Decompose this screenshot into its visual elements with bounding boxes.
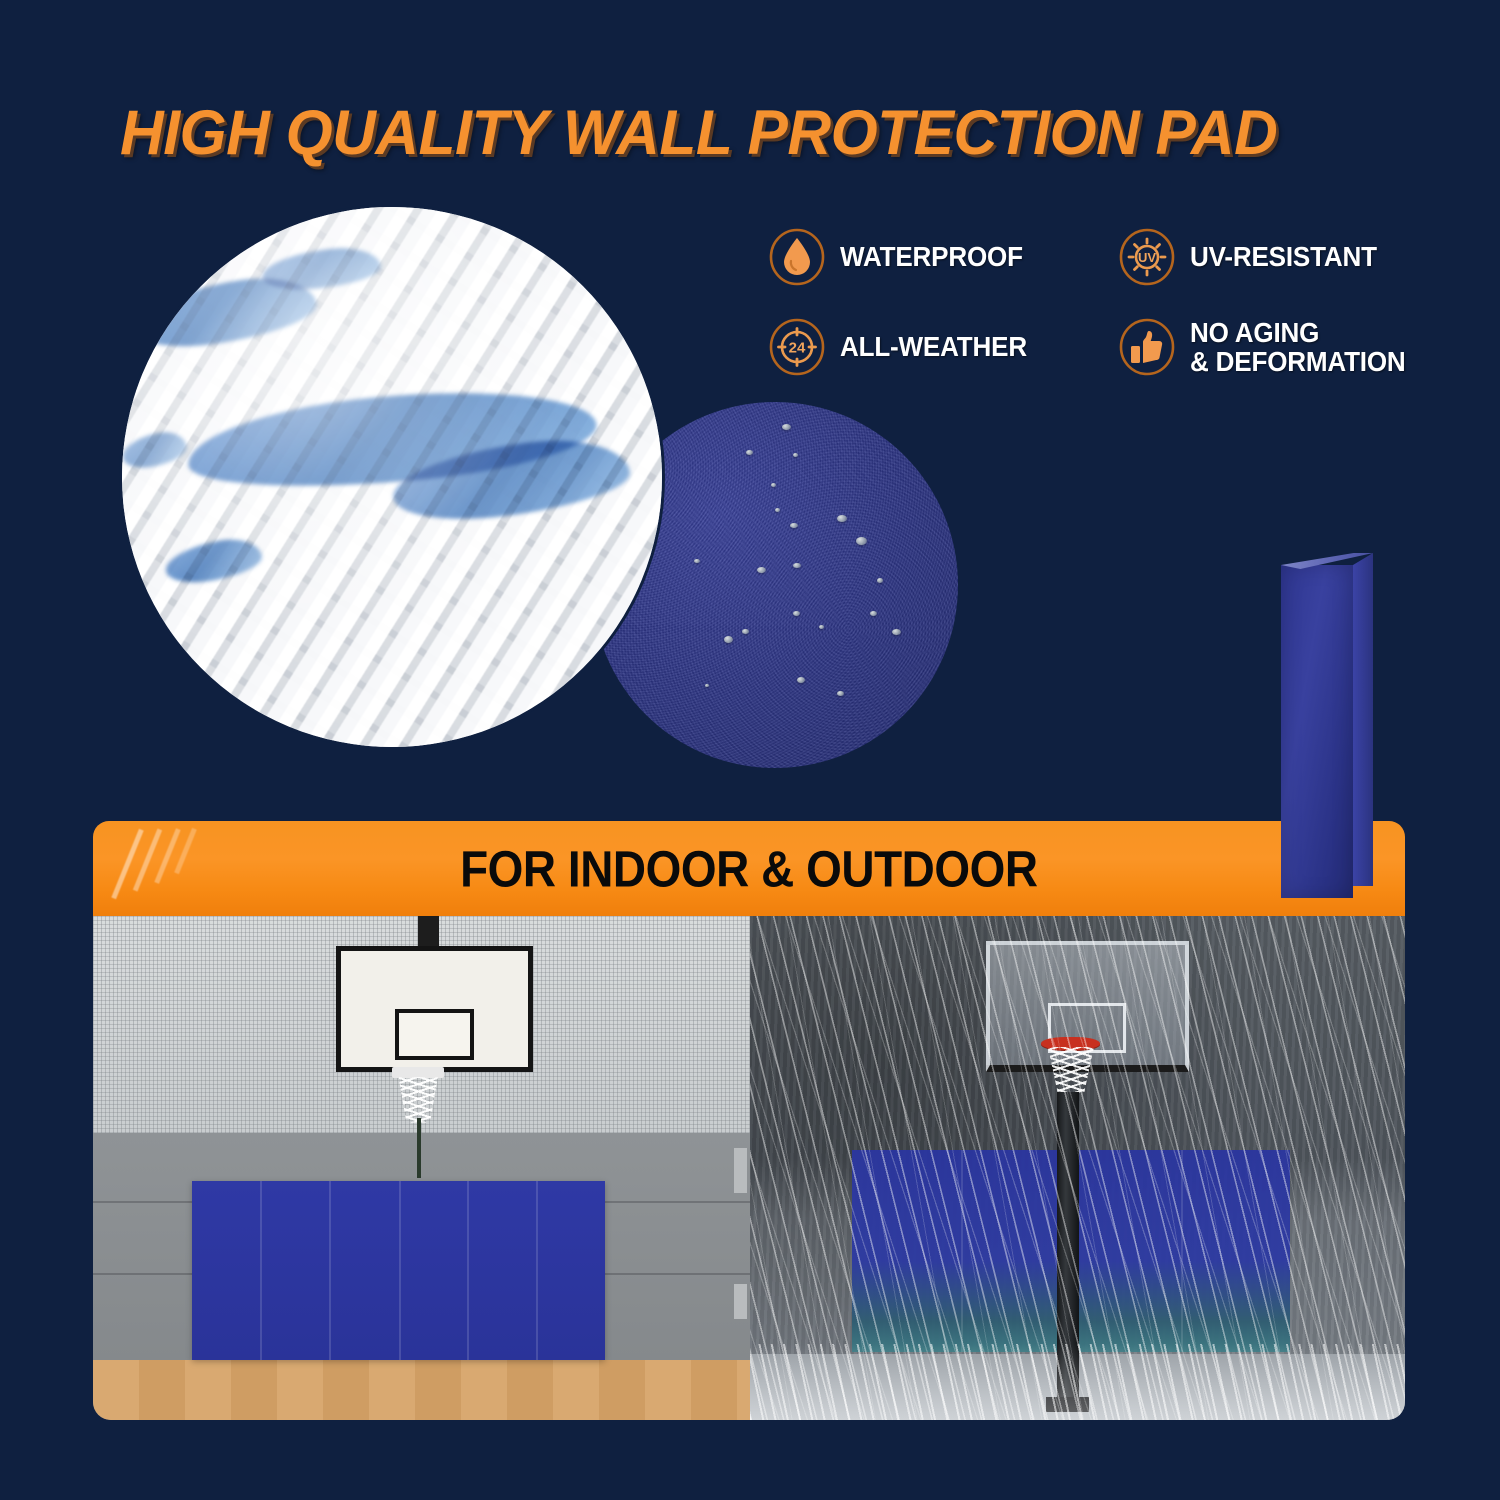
backboard-square (395, 1009, 474, 1060)
indoor-rim (392, 1067, 445, 1078)
water-bead (724, 636, 733, 643)
water-bead (746, 450, 753, 455)
standing-pad-3d (1281, 553, 1373, 898)
hours-icon-text: 24 (789, 340, 806, 357)
indoor-backboard (336, 946, 533, 1072)
wall-fixture-lower (734, 1284, 747, 1319)
water-bead (793, 611, 800, 616)
usage-photo-pair (93, 916, 1405, 1420)
water-drop-icon (768, 228, 826, 286)
feature-label: NO AGING & DEFORMATION (1190, 318, 1406, 377)
banner-title: FOR INDOOR & OUTDOOR (93, 839, 1405, 898)
clock-24-icon: 24 (768, 318, 826, 376)
pad-side-face (1353, 553, 1373, 886)
closeup-foam-circle (122, 207, 662, 747)
water-bead (797, 677, 805, 683)
indoor-wall-pad (192, 1181, 606, 1360)
water-bead (790, 523, 798, 528)
page-title: HIGH QUALITY WALL PROTECTION PAD (120, 97, 1277, 169)
uv-sun-icon: UV (1118, 228, 1176, 286)
indoor-outdoor-banner: FOR INDOOR & OUTDOOR (93, 821, 1405, 916)
water-bead (771, 483, 776, 487)
feature-label: ALL-WEATHER (840, 332, 1027, 361)
feature-label: WATERPROOF (840, 242, 1023, 271)
wall-fixture-upper (734, 1148, 747, 1193)
photo-outdoor-rain (750, 916, 1405, 1420)
water-bead (742, 629, 749, 634)
water-bead (892, 629, 901, 635)
ground-splash (750, 1344, 1405, 1420)
feature-item-all-weather: 24 ALL-WEATHER (768, 302, 1118, 392)
gym-wood-floor (93, 1360, 750, 1420)
uv-icon-text: UV (1138, 250, 1156, 265)
feature-list: WATERPROOF UV (768, 212, 1468, 392)
product-infographic: HIGH QUALITY WALL PROTECTION PAD WATERPR… (0, 0, 1500, 1500)
pad-front-face (1281, 565, 1353, 898)
water-bead (757, 567, 766, 573)
indoor-support-rod (417, 1118, 422, 1178)
thumbs-up-icon (1118, 318, 1176, 376)
feature-item-uv-resistant: UV UV-RESISTANT (1118, 212, 1468, 302)
feature-item-waterproof: WATERPROOF (768, 212, 1118, 302)
feature-label: UV-RESISTANT (1190, 242, 1377, 271)
banner-title-text: FOR INDOOR & OUTDOOR (460, 839, 1037, 898)
water-bead (870, 611, 877, 616)
feature-item-no-aging: NO AGING & DEFORMATION (1118, 302, 1468, 392)
photo-indoor-gym (93, 916, 750, 1420)
